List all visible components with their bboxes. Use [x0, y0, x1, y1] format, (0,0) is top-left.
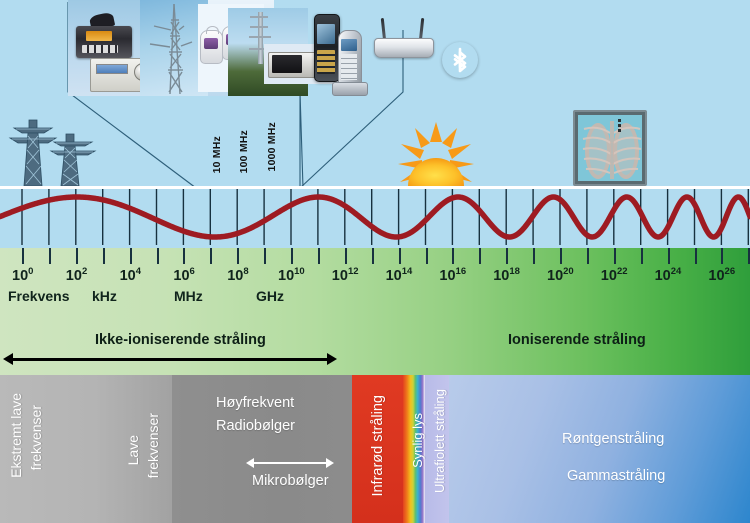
cordless-phone-photo [330, 30, 370, 96]
axis-tick [399, 248, 401, 264]
axis-tick [641, 248, 643, 264]
label-hf-line1: Høyfrekvent [216, 395, 294, 411]
tower-antenna-arm [250, 16, 268, 18]
label-elf-line2: frekvenser [28, 405, 44, 470]
label-visible-light: Synlig lys [410, 413, 425, 468]
axis-exponent-label: 108 [227, 266, 248, 284]
band-xray-gamma [449, 375, 750, 523]
axis-tick [130, 248, 132, 264]
axis-exponent: 20 [563, 266, 574, 277]
axis-tick [291, 248, 293, 264]
axis-exponent: 24 [671, 266, 682, 277]
radio-base-screen [96, 64, 128, 74]
em-spectrum-figure: 10 MHz 100 MHz 1000 MHz 1001021041061081… [0, 0, 750, 523]
label-ultraviolet: Ultrafiolett stråling [432, 389, 447, 493]
label-elf-line1: Ekstremt lave [8, 393, 24, 478]
baby-monitor-unit [200, 30, 223, 64]
axis-mantissa: 10 [278, 268, 294, 284]
axis-tick [533, 248, 535, 264]
frequency-scale-band: 1001021041061081010101210141016101810201… [0, 248, 750, 375]
axis-mantissa: 10 [173, 268, 189, 284]
callout-label-100mhz: 100 MHz [238, 130, 250, 173]
axis-exponent-label: 1020 [547, 266, 574, 284]
axis-exponent: 12 [348, 266, 359, 277]
cordless-screen [341, 39, 357, 51]
microwaves-range-arrow [253, 462, 327, 464]
axis-tick [49, 248, 51, 264]
axis-exponent-label: 1010 [278, 266, 305, 284]
axis-exponent-label: 102 [66, 266, 87, 284]
cordless-base-station [332, 82, 368, 96]
axis-mantissa: 10 [601, 268, 617, 284]
axis-mantissa: 10 [66, 268, 82, 284]
electromagnetic-waveform [0, 186, 750, 254]
axis-exponent-label: 1022 [601, 266, 628, 284]
label-gamma: Gammastråling [567, 468, 665, 484]
chest-xray-image [573, 110, 647, 186]
axis-tick [237, 248, 239, 264]
axis-mantissa: 10 [655, 268, 671, 284]
axis-exponent-label: 1014 [386, 266, 413, 284]
tower-antenna-arm [250, 26, 268, 28]
axis-tick [452, 248, 454, 264]
wifi-router-photo [368, 18, 438, 68]
axis-exponent-label: 106 [173, 266, 194, 284]
axis-tick [103, 248, 105, 264]
axis-tick [426, 248, 428, 264]
tower-antenna-arm [249, 36, 271, 38]
tower-mast [258, 12, 263, 64]
axis-exponent: 16 [456, 266, 467, 277]
axis-tick [721, 248, 723, 264]
spectrum-category-band: Ekstremt lave frekvenser Lave frekvenser… [0, 375, 750, 523]
label-lf-line2: frekvenser [145, 413, 161, 478]
label-xray: Røntgenstråling [562, 431, 664, 447]
axis-tick [506, 248, 508, 264]
axis-exponent-label: 1018 [493, 266, 520, 284]
axis-tick [614, 248, 616, 264]
axis-exponent: 2 [82, 266, 87, 277]
axis-unit-ghz: GHz [256, 288, 284, 304]
axis-tick [210, 248, 212, 264]
axis-exponent: 8 [243, 266, 248, 277]
axis-mantissa: 10 [12, 268, 28, 284]
router-body [374, 38, 434, 58]
set-top-box-display [272, 55, 302, 73]
axis-exponent: 18 [509, 266, 520, 277]
power-pylon-icon [6, 112, 110, 190]
axis-mantissa: 10 [332, 268, 348, 284]
axis-exponent-label: 1026 [708, 266, 735, 284]
axis-unit-khz: kHz [92, 288, 117, 304]
axis-tick [22, 248, 24, 264]
radio-buttons [82, 45, 118, 53]
axis-exponent-label: 1012 [332, 266, 359, 284]
label-ionising: Ioniserende stråling [508, 332, 646, 348]
axis-exponent: 10 [294, 266, 305, 277]
axis-exponent: 14 [402, 266, 413, 277]
axis-tick [345, 248, 347, 264]
axis-mantissa: 10 [386, 268, 402, 284]
axis-exponent: 22 [617, 266, 628, 277]
axis-tick [318, 248, 320, 264]
axis-exponent: 26 [725, 266, 736, 277]
axis-exponent-label: 1016 [439, 266, 466, 284]
axis-tick [479, 248, 481, 264]
callout-label-10mhz: 10 MHz [211, 136, 223, 173]
axis-exponent-label: 100 [12, 266, 33, 284]
axis-mantissa: 10 [493, 268, 509, 284]
axis-exponent: 6 [190, 266, 195, 277]
axis-unit-mhz: MHz [174, 288, 203, 304]
bluetooth-logo [442, 42, 478, 78]
axis-exponent-label: 1024 [655, 266, 682, 284]
axis-tick [372, 248, 374, 264]
axis-tick [560, 248, 562, 264]
axis-tick [668, 248, 670, 264]
axis-mantissa: 10 [547, 268, 563, 284]
axis-mantissa: 10 [120, 268, 136, 284]
device-photo-collage [68, 0, 403, 96]
sun-icon [398, 122, 474, 188]
label-microwaves: Mikrobølger [252, 473, 329, 489]
label-non-ionising: Ikke-ioniserende stråling [95, 332, 266, 348]
label-infrared: Infrarød stråling [370, 395, 386, 497]
axis-mantissa: 10 [227, 268, 243, 284]
axis-mantissa: 10 [708, 268, 724, 284]
axis-tick [587, 248, 589, 264]
radio-screen [86, 31, 112, 41]
axis-exponent: 0 [28, 266, 33, 277]
label-lf-line1: Lave [125, 435, 141, 465]
axis-mantissa: 10 [439, 268, 455, 284]
axis-tick [183, 248, 185, 264]
callout-label-1000mhz: 1000 MHz [266, 122, 278, 171]
label-hf-line2: Radiobølger [216, 418, 295, 434]
cordless-keypad [341, 54, 357, 80]
axis-tick [157, 248, 159, 264]
axis-unit-frekvens: Frekvens [8, 288, 69, 304]
axis-exponent: 4 [136, 266, 141, 277]
axis-tick [76, 248, 78, 264]
axis-exponent-label: 104 [120, 266, 141, 284]
xray-film [578, 115, 642, 181]
axis-tick [695, 248, 697, 264]
axis-tick [264, 248, 266, 264]
non-ionising-range-arrow [12, 358, 328, 361]
